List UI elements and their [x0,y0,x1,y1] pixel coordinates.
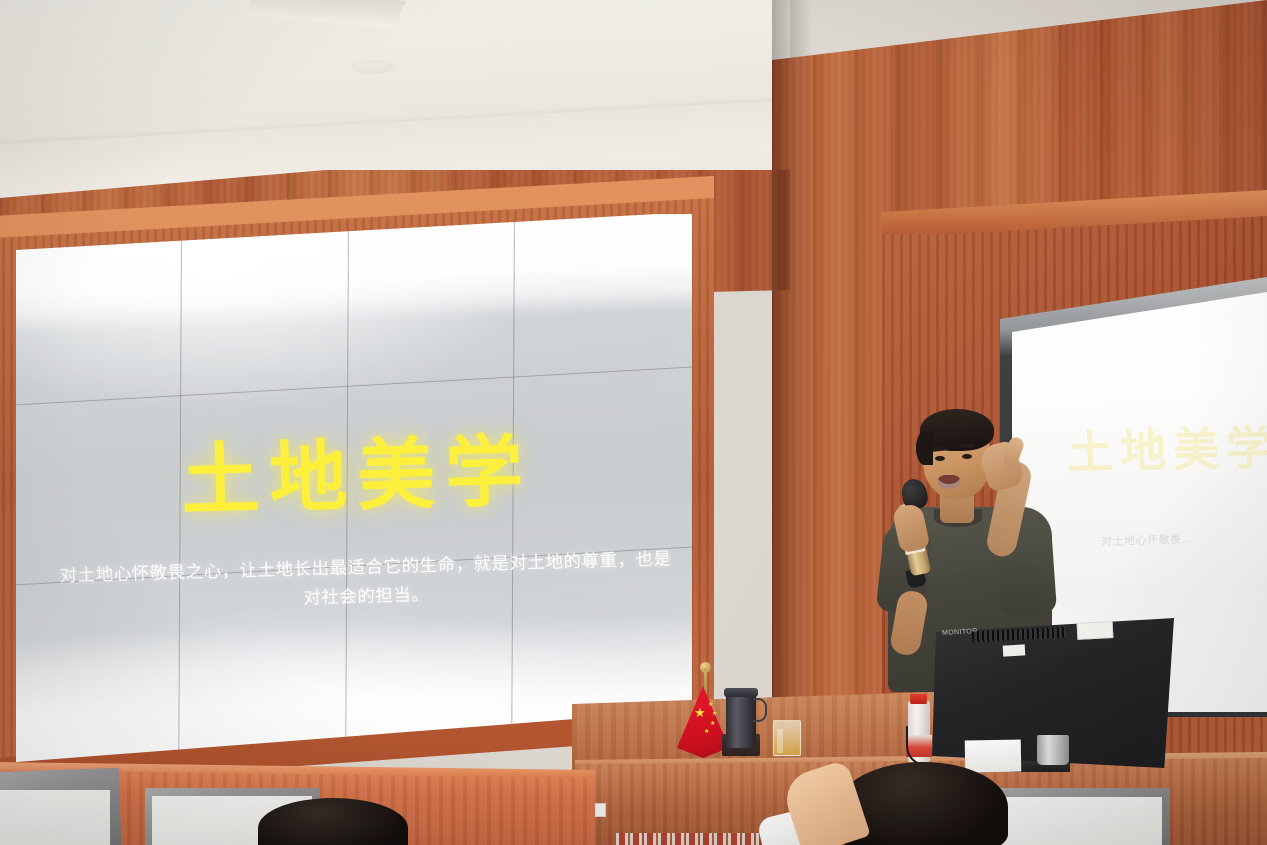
flag-star-icon: ★ [712,711,717,717]
thermos-handle [753,698,767,722]
flag-star-icon: ★ [704,729,709,735]
flag-star-icon: ★ [708,702,713,708]
thermos-flask-icon [726,692,756,748]
tea-glass-icon [773,720,801,756]
slide-subtitle: 对土地心怀敬畏之心，让土地长出最适合它的生命，就是对土地的尊重，也是对社会的担当… [55,545,676,620]
flag-star-icon: ★ [710,721,715,727]
presenter-eye [962,454,972,459]
bottle-cap [910,694,927,704]
metal-cup-icon [1037,735,1069,765]
photo-scene: 土地美学 对土地心怀敬畏之心，让土地长出最适合它的生命，就是对土地的尊重，也是对… [0,0,1267,845]
paper-sheet [965,740,1022,773]
monitor-sticker [1003,644,1026,656]
presenter-mouth [938,475,960,489]
flag-star-icon: ★ [694,706,706,719]
ceiling-speaker-icon [352,60,394,74]
presenter-eye [935,456,945,461]
thermos-cap [724,688,758,697]
slide-title: 土地美学 [180,409,535,531]
side-slide-title: 土地美学 [1066,411,1267,482]
presenter-hair-side [916,431,933,465]
led-video-wall[interactable]: 土地美学 对土地心怀敬畏之心，让土地长出最适合它的生命，就是对土地的尊重，也是对… [16,214,692,762]
monitor-sticker [1077,621,1114,640]
audience-monitor-screen [0,790,110,845]
panel-bezel-horizontal [16,364,692,407]
